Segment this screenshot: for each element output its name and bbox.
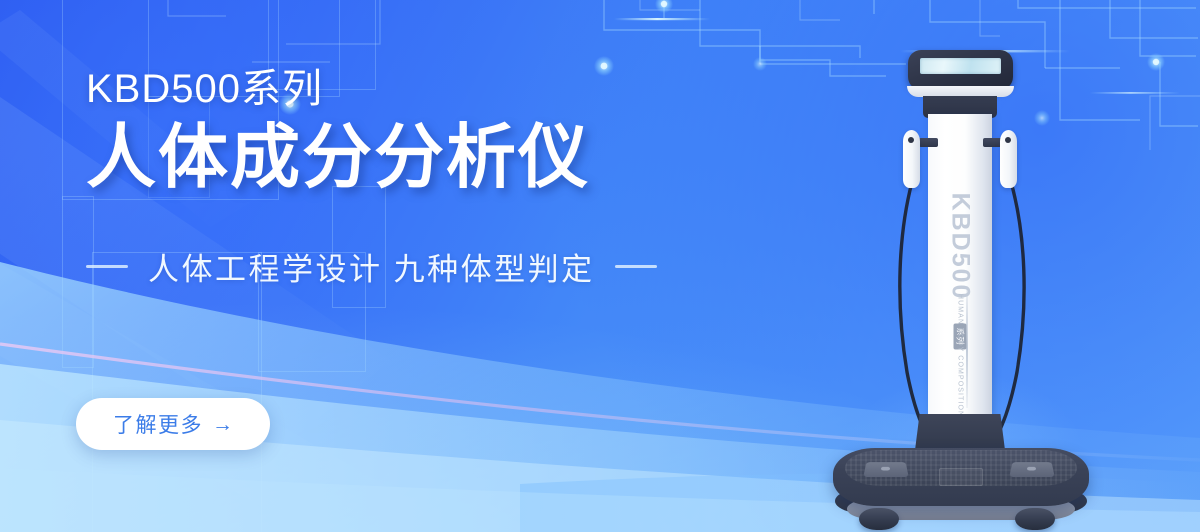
dash-right-decoration xyxy=(615,265,657,268)
grip-button-icon xyxy=(1005,137,1011,143)
banner-subline-row: 人体工程学设计 九种体型判定 xyxy=(86,244,706,289)
banner-subline: 人体工程学设计 九种体型判定 xyxy=(148,244,595,289)
hand-electrode-left xyxy=(903,130,920,188)
arrow-right-icon: → xyxy=(212,414,233,435)
foot-electrode-left xyxy=(863,462,908,477)
grip-arm-left xyxy=(919,138,938,147)
banner-copy: KBD500系列 人体成分分析仪 人体工程学设计 九种体型判定 xyxy=(86,66,706,289)
foot-electrode-right xyxy=(1009,462,1054,477)
device-leveling-foot-right xyxy=(1015,508,1055,530)
learn-more-label: 了解更多 xyxy=(113,409,203,439)
device-display-screen xyxy=(920,58,1001,74)
product-banner: KBD500系列 人体成分分析仪 人体工程学设计 九种体型判定 了解更多 → K… xyxy=(0,0,1200,532)
decorative-rectangle xyxy=(92,252,262,532)
product-image-body-composition-analyzer: KBD500 系列 HUMAN BODY COMPOSITION ANALYZE… xyxy=(815,42,1105,512)
hand-electrode-right xyxy=(1000,130,1017,188)
banner-headline: 人体成分分析仪 xyxy=(86,117,706,198)
device-column: KBD500 系列 HUMAN BODY COMPOSITION ANALYZE… xyxy=(928,114,992,426)
device-base-center-marker xyxy=(939,468,983,486)
device-model-label: KBD500 xyxy=(946,193,975,301)
device-display-bezel xyxy=(908,50,1013,90)
banner-kicker: KBD500系列 xyxy=(86,66,706,113)
learn-more-button[interactable]: 了解更多 → xyxy=(76,398,270,450)
foot-electrode-contact-icon xyxy=(881,467,890,471)
dash-left-decoration xyxy=(86,265,128,268)
grip-button-icon xyxy=(908,137,914,143)
foot-electrode-contact-icon xyxy=(1027,467,1036,471)
device-leveling-foot-left xyxy=(859,508,899,530)
